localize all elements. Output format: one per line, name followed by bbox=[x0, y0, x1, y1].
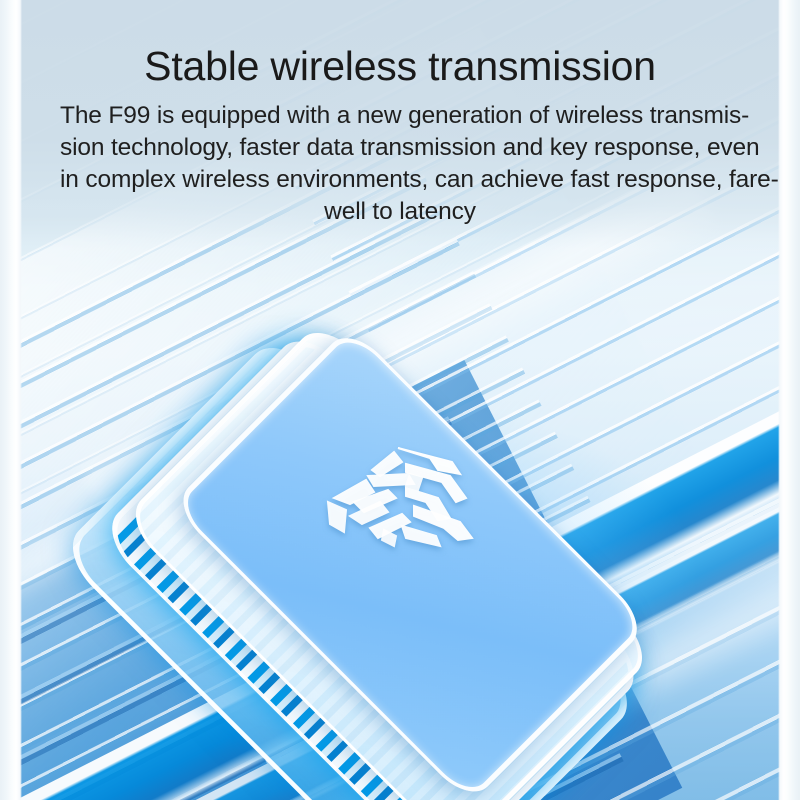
body-copy-line-1: The F99 is equipped with a new generatio… bbox=[60, 100, 740, 132]
product-image-page: Stable wireless transmission The F99 is … bbox=[0, 0, 800, 800]
body-copy-line-4: well to latency bbox=[60, 196, 740, 228]
switch-module bbox=[134, 309, 666, 800]
page-title: Stable wireless transmission bbox=[0, 0, 800, 87]
body-copy: The F99 is equipped with a new generatio… bbox=[60, 87, 740, 227]
body-copy-line-3: in complex wireless environments, can ac… bbox=[60, 164, 740, 196]
copy-block: Stable wireless transmission The F99 is … bbox=[0, 0, 800, 227]
body-copy-line-2: sion technology, faster data transmissio… bbox=[60, 132, 740, 164]
